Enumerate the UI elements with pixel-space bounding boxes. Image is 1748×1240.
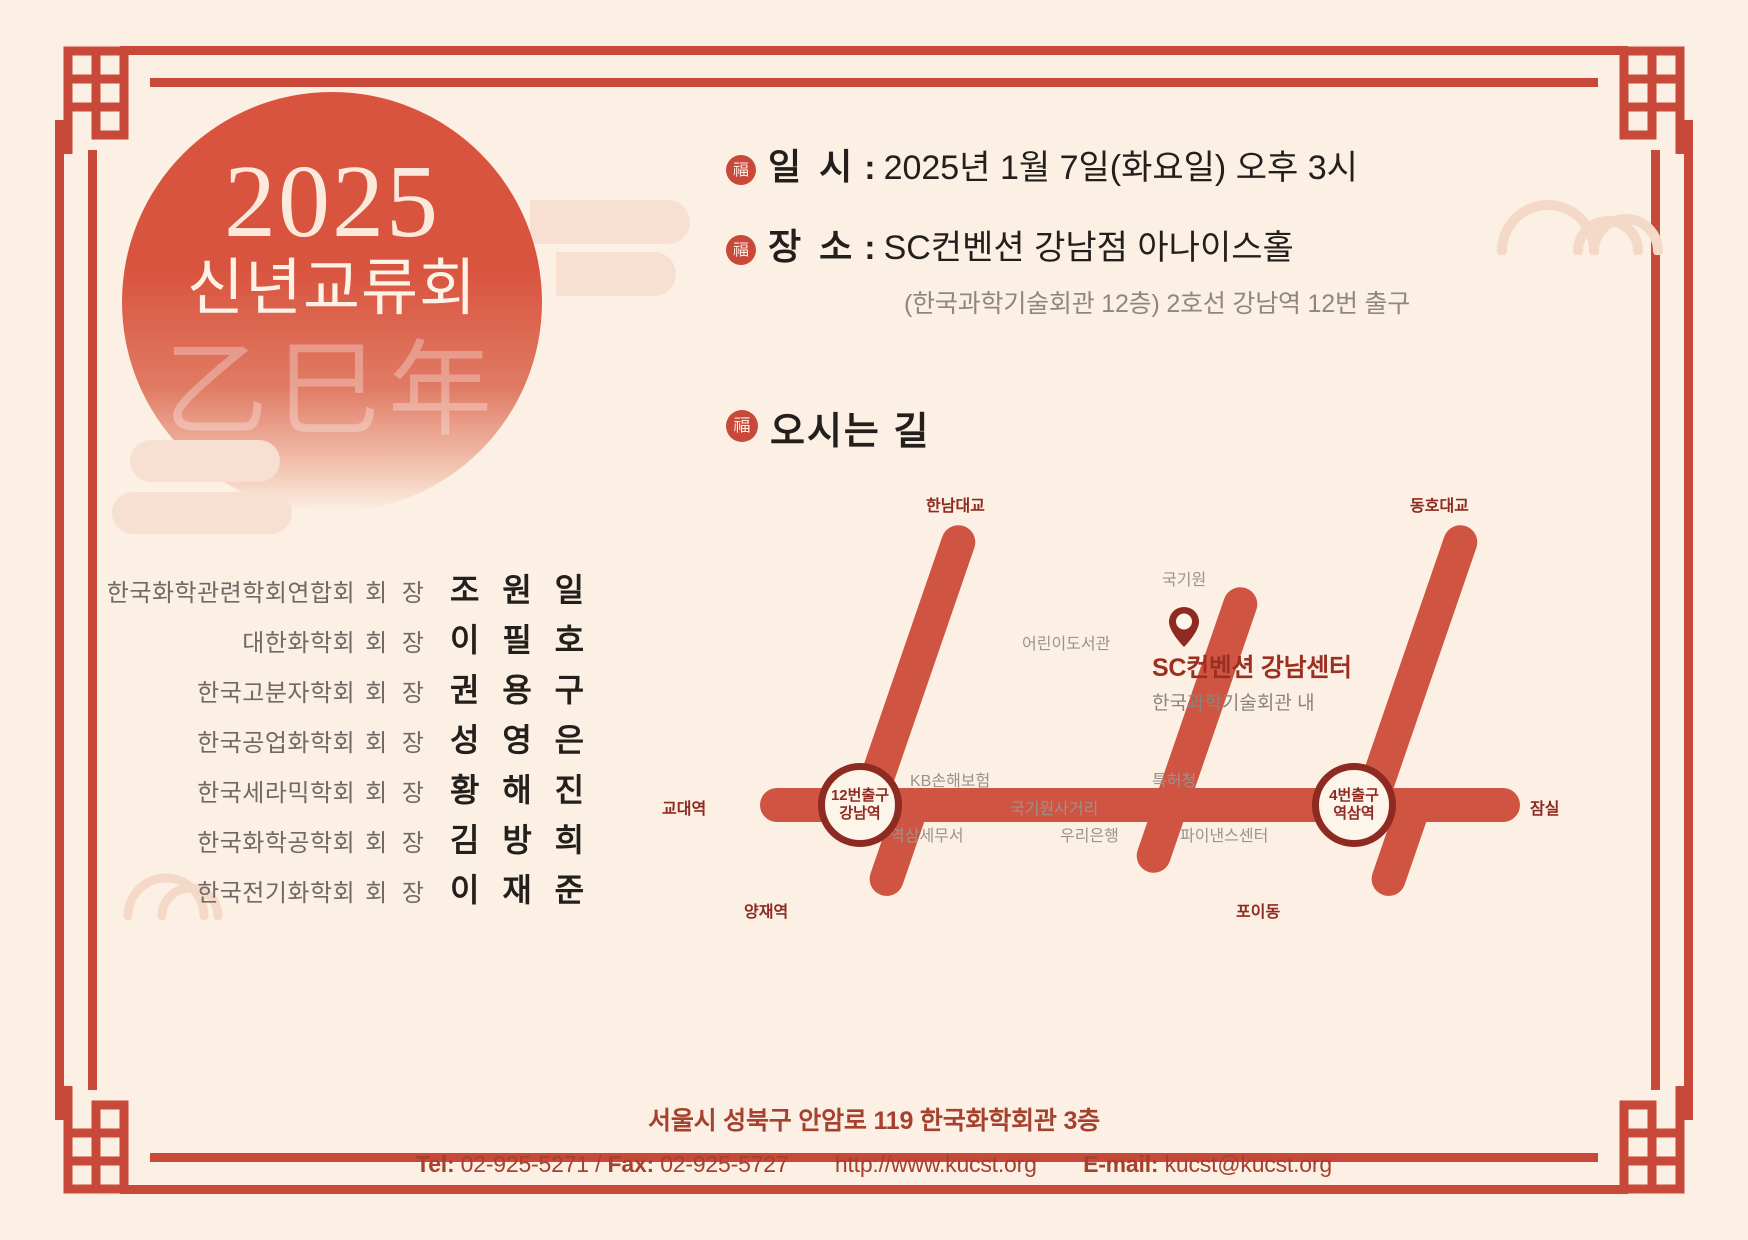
map-label-patent-office: 특허청	[1152, 767, 1196, 791]
officer-name: 김 방 희	[450, 815, 590, 861]
officer-name: 이 재 준	[450, 865, 590, 911]
footer-fax: 02-925-5727	[660, 1151, 788, 1177]
cloud-decoration	[112, 492, 292, 534]
event-place-sub: (한국과학기술회관 12층) 2호선 강남역 12번 출구	[904, 284, 1586, 320]
map-label-hannam-bridge: 한남대교	[926, 492, 985, 516]
officer-org: 한국세라믹학회	[197, 773, 355, 808]
footer-fax-label: Fax:	[608, 1151, 655, 1177]
officer-name: 조 원 일	[450, 565, 590, 611]
officer-row: 한국세라믹학회회 장황 해 진	[120, 765, 590, 815]
hero-year: 2025	[122, 150, 542, 254]
location-pin-icon	[1167, 605, 1201, 654]
footer-email[interactable]: kucst@kucst.org	[1165, 1151, 1332, 1177]
station-node-yeoksam[interactable]: 4번출구 역삼역	[1312, 763, 1396, 847]
directions-title: 오시는 길	[770, 400, 930, 455]
officer-title: 회 장	[365, 573, 428, 608]
officer-row: 대한화학회회 장이 필 호	[120, 615, 590, 665]
officer-name: 권 용 구	[450, 665, 590, 711]
officer-row: 한국공업화학회회 장성 영 은	[120, 715, 590, 765]
officer-title: 회 장	[365, 623, 428, 658]
footer-tel-label: Tel:	[416, 1151, 454, 1177]
frame-line-left-inner	[88, 150, 97, 1090]
officer-list: 한국화학관련학회연합회회 장조 원 일대한화학회회 장이 필 호한국고분자학회회…	[120, 565, 590, 915]
map-label-poidong: 포이동	[1236, 898, 1280, 922]
venue-name: SC컨벤션 강남센터	[1152, 648, 1352, 684]
frame-line-bottom	[120, 1185, 1628, 1194]
event-place-row: 福 장 소 : SC컨벤션 강남점 아나이스홀	[726, 218, 1586, 270]
fortune-badge-icon: 福	[726, 155, 756, 185]
map-label-finance-center: 파이낸스센터	[1180, 822, 1268, 846]
venue-callout: SC컨벤션 강남센터 한국과학기술회관 내	[1152, 648, 1352, 715]
officer-org: 대한화학회	[242, 623, 355, 658]
venue-sub: 한국과학기술회관 내	[1152, 688, 1352, 715]
frame-line-top-inner	[150, 78, 1598, 87]
map-label-kukkiwon-intersection: 국기원사거리	[1010, 795, 1098, 819]
map-label-jamsil: 잠실	[1530, 795, 1559, 819]
corner-ornament-icon	[1586, 42, 1698, 154]
officer-title: 회 장	[365, 673, 428, 708]
officer-org: 한국고분자학회	[197, 673, 355, 708]
footer-tel: 02-925-5271	[461, 1151, 589, 1177]
officer-org: 한국전기화학회	[197, 873, 355, 908]
station-exit: 4번출구	[1329, 787, 1379, 805]
footer-website[interactable]: http://www.kucst.org	[835, 1151, 1037, 1177]
officer-row: 한국화학공학회회 장김 방 희	[120, 815, 590, 865]
footer-email-label: E-mail:	[1083, 1151, 1158, 1177]
officer-title: 회 장	[365, 723, 428, 758]
colon-separator: :	[864, 229, 875, 268]
map-label-yeoksam-tax-office: 역삼세무서	[890, 822, 964, 846]
fortune-badge-icon: 福	[726, 410, 758, 442]
colon-separator: :	[864, 149, 875, 188]
officer-name: 황 해 진	[450, 765, 590, 811]
location-map: 12번출구 강남역 4번출구 역삼역 한남대교 동호대교 교대역 잠실 양재역 …	[640, 470, 1680, 950]
cloud-decoration	[530, 200, 690, 244]
event-place-value: SC컨벤션 강남점 아나이스홀	[884, 220, 1294, 269]
fortune-badge-icon: 福	[726, 235, 756, 265]
officer-title: 회 장	[365, 773, 428, 808]
map-label-kb-insurance: KB손해보험	[910, 767, 990, 791]
officer-title: 회 장	[365, 873, 428, 908]
poster-canvas: 乙巳年 2025 신년교류회 福 일 시 : 2025년 1월 7일(화요일) …	[0, 0, 1748, 1240]
officer-org: 한국공업화학회	[197, 723, 355, 758]
event-date-row: 福 일 시 : 2025년 1월 7일(화요일) 오후 3시	[726, 138, 1586, 190]
map-label-yangjae: 양재역	[744, 898, 788, 922]
cloud-decoration	[130, 440, 280, 482]
frame-line-left	[55, 120, 64, 1120]
map-label-childrens-library: 어린이도서관	[1022, 630, 1110, 654]
officer-org: 한국화학공학회	[197, 823, 355, 858]
hero-ghost-text: 乙巳年	[122, 340, 542, 444]
event-info-block: 福 일 시 : 2025년 1월 7일(화요일) 오후 3시 福 장 소 : S…	[726, 138, 1586, 320]
station-name: 강남역	[839, 805, 880, 823]
event-date-value: 2025년 1월 7일(화요일) 오후 3시	[884, 140, 1358, 189]
officer-row: 한국전기화학회회 장이 재 준	[120, 865, 590, 915]
footer-contact-line: Tel: 02-925-5271 / Fax: 02-925-5727 http…	[0, 1151, 1748, 1178]
event-place-label: 장 소	[768, 218, 856, 270]
map-label-woori-bank: 우리은행	[1060, 822, 1119, 846]
footer-address: 서울시 성북구 안암로 119 한국화학회관 3층	[0, 1101, 1748, 1137]
map-label-kukkiwon: 국기원	[1162, 566, 1206, 590]
officer-row: 한국화학관련학회연합회회 장조 원 일	[120, 565, 590, 615]
station-name: 역삼역	[1333, 805, 1374, 823]
directions-heading: 福 오시는 길	[726, 400, 930, 455]
officer-name: 이 필 호	[450, 615, 590, 661]
station-node-gangnam[interactable]: 12번출구 강남역	[818, 763, 902, 847]
map-label-dongho-bridge: 동호대교	[1410, 492, 1469, 516]
officer-org: 한국화학관련학회연합회	[107, 573, 355, 608]
officer-row: 한국고분자학회회 장권 용 구	[120, 665, 590, 715]
footer-block: 서울시 성북구 안암로 119 한국화학회관 3층 Tel: 02-925-52…	[0, 1101, 1748, 1178]
cloud-decoration	[556, 252, 676, 296]
hero-title: 신년교류회	[122, 258, 542, 320]
map-label-gyodae: 교대역	[662, 795, 706, 819]
footer-separator: /	[595, 1151, 601, 1177]
frame-line-right	[1684, 120, 1693, 1120]
officer-title: 회 장	[365, 823, 428, 858]
event-date-label: 일 시	[768, 138, 856, 190]
officer-name: 성 영 은	[450, 715, 590, 761]
frame-line-top	[120, 46, 1628, 55]
station-exit: 12번출구	[831, 787, 889, 805]
corner-ornament-icon	[50, 42, 162, 154]
